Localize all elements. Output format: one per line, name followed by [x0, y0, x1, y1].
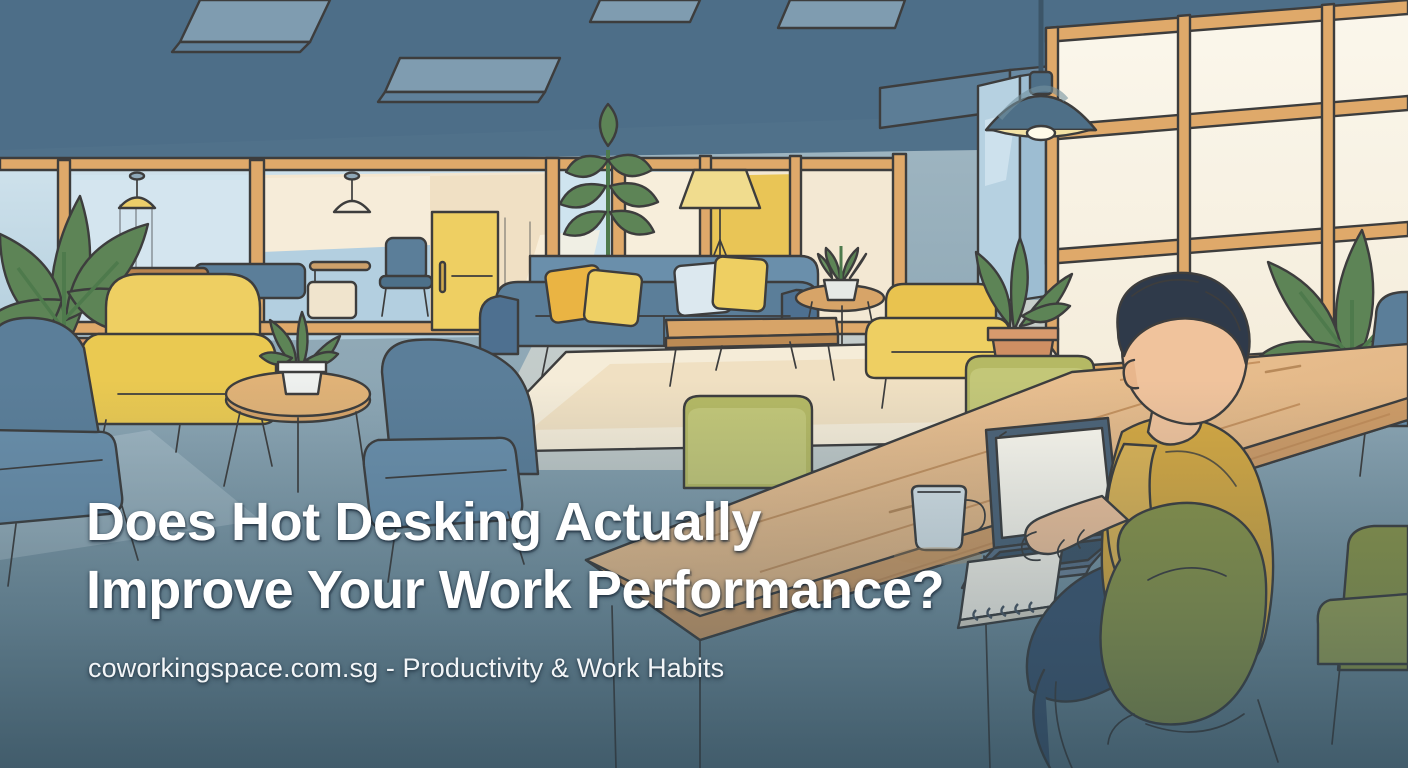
- bottom-vignette: [0, 380, 1408, 768]
- coworking-space-illustration: .o{stroke:#3d3d3d;stroke-width:2.4;strok…: [0, 0, 1408, 768]
- cabinet-behind-glass: [308, 282, 356, 318]
- banner-image: .o{stroke:#3d3d3d;stroke-width:2.4;strok…: [0, 0, 1408, 768]
